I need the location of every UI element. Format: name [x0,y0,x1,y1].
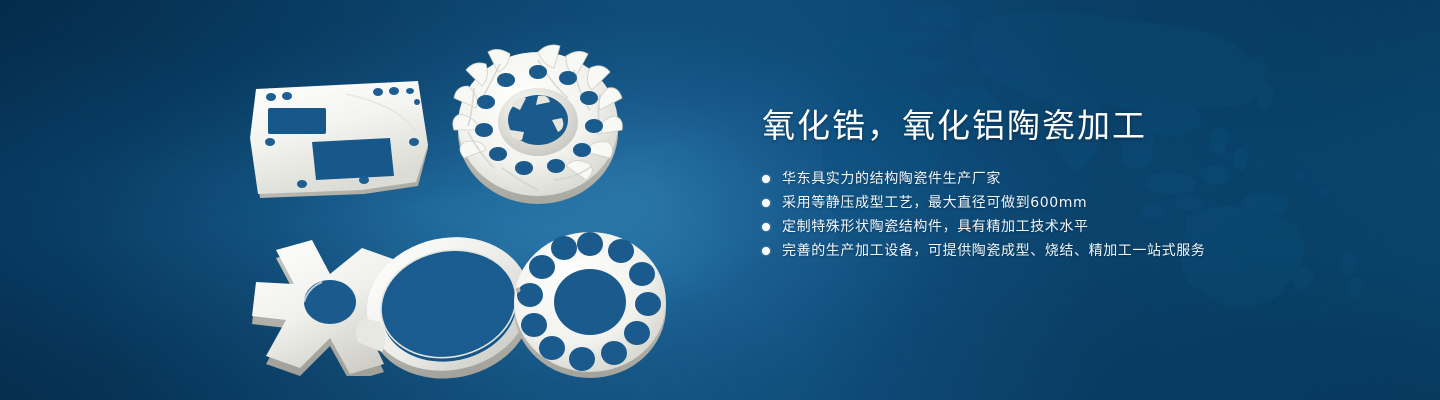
ceramic-impeller-part [448,36,628,214]
bullet-dot-icon [762,199,770,207]
ceramic-perforated-disc-part [508,224,672,382]
feature-item-label: 采用等静压成型工艺，最大直径可做到600mm [782,195,1087,211]
product-photo-group [236,36,688,382]
feature-item-label: 华东具实力的结构陶瓷件生产厂家 [782,171,1001,187]
feature-list-item: 华东具实力的结构陶瓷件生产厂家 [762,171,1382,187]
banner-headline: 氧化锆，氧化铝陶瓷加工 [762,104,1382,148]
feature-list-item: 完善的生产加工设备，可提供陶瓷成型、烧结、精加工一站式服务 [762,243,1382,259]
bullet-dot-icon [762,247,770,255]
feature-list-item: 定制特殊形状陶瓷结构件，具有精加工技术水平 [762,219,1382,235]
feature-item-label: 完善的生产加工设备，可提供陶瓷成型、烧结、精加工一站式服务 [782,243,1205,259]
banner-feature-list: 华东具实力的结构陶瓷件生产厂家 采用等静压成型工艺，最大直径可做到600mm 定… [762,171,1382,259]
banner-text-block: 氧化锆，氧化铝陶瓷加工 华东具实力的结构陶瓷件生产厂家 采用等静压成型工艺，最大… [762,104,1382,267]
feature-list-item: 采用等静压成型工艺，最大直径可做到600mm [762,195,1382,211]
bullet-dot-icon [762,175,770,183]
hero-banner: 氧化锆，氧化铝陶瓷加工 华东具实力的结构陶瓷件生产厂家 采用等静压成型工艺，最大… [0,0,1440,400]
ceramic-plate-part [250,80,440,202]
bullet-dot-icon [762,223,770,231]
feature-item-label: 定制特殊形状陶瓷结构件，具有精加工技术水平 [782,219,1089,235]
